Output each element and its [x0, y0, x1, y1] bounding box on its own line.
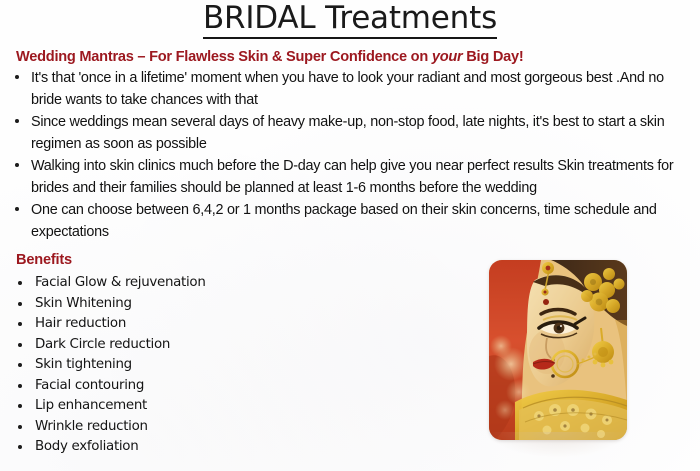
- benefit-item-text: Body exfoliation: [35, 439, 138, 454]
- bullet-dot-icon: [18, 425, 22, 429]
- benefit-item-text: Dark Circle reduction: [35, 337, 170, 352]
- bullet-dot-icon: [18, 343, 22, 347]
- list-item: One can choose between 6,4,2 or 1 months…: [10, 200, 692, 243]
- list-item: Facial contouring: [14, 376, 344, 397]
- main-bullet-list: It's that 'once in a lifetime' moment wh…: [10, 68, 692, 244]
- bullet-dot-icon: [18, 445, 22, 449]
- bridal-portrait-photo: [489, 260, 627, 440]
- list-item-text: Walking into skin clinics much before th…: [31, 156, 692, 199]
- benefits-heading: Benefits: [16, 252, 72, 268]
- bullet-dot-icon: [15, 75, 19, 79]
- benefit-item-text: Facial Glow & rejuvenation: [35, 275, 206, 290]
- bullet-dot-icon: [18, 322, 22, 326]
- bridal-portrait-illustration: [489, 260, 627, 440]
- bullet-dot-icon: [18, 404, 22, 408]
- bullet-dot-icon: [15, 119, 19, 123]
- list-item: Since weddings mean several days of heav…: [10, 112, 692, 155]
- list-item: Skin tightening: [14, 355, 344, 376]
- benefits-list: Facial Glow & rejuvenation Skin Whitenin…: [14, 273, 344, 458]
- wedding-mantras-subtitle: Wedding Mantras – For Flawless Skin & Su…: [16, 49, 523, 65]
- benefit-item-text: Lip enhancement: [35, 398, 147, 413]
- list-item-text: One can choose between 6,4,2 or 1 months…: [31, 200, 692, 243]
- list-item: Body exfoliation: [14, 437, 344, 458]
- page-title-container: BRIDAL Treatments: [0, 2, 700, 39]
- subtitle-text-italic: your: [432, 49, 463, 65]
- benefit-item-text: Wrinkle reduction: [35, 419, 148, 434]
- list-item: Skin Whitening: [14, 294, 344, 315]
- bullet-dot-icon: [18, 363, 22, 367]
- bullet-dot-icon: [18, 281, 22, 285]
- bullet-dot-icon: [18, 302, 22, 306]
- page-title: BRIDAL Treatments: [203, 2, 497, 39]
- benefit-item-text: Hair reduction: [35, 316, 126, 331]
- benefit-item-text: Facial contouring: [35, 378, 144, 393]
- list-item: Wrinkle reduction: [14, 417, 344, 438]
- list-item: It's that 'once in a lifetime' moment wh…: [10, 68, 692, 111]
- list-item: Facial Glow & rejuvenation: [14, 273, 344, 294]
- subtitle-text-after: Big Day!: [462, 49, 523, 65]
- list-item-text: Since weddings mean several days of heav…: [31, 112, 692, 155]
- list-item: Walking into skin clinics much before th…: [10, 156, 692, 199]
- list-item: Dark Circle reduction: [14, 335, 344, 356]
- poster-page: BRIDAL Treatments Wedding Mantras – For …: [0, 0, 700, 471]
- bullet-dot-icon: [18, 384, 22, 388]
- benefit-item-text: Skin Whitening: [35, 296, 132, 311]
- subtitle-text-before: Wedding Mantras – For Flawless Skin & Su…: [16, 49, 432, 65]
- list-item: Hair reduction: [14, 314, 344, 335]
- bullet-dot-icon: [15, 207, 19, 211]
- list-item-text: It's that 'once in a lifetime' moment wh…: [31, 68, 692, 111]
- bullet-dot-icon: [15, 163, 19, 167]
- benefit-item-text: Skin tightening: [35, 357, 132, 372]
- list-item: Lip enhancement: [14, 396, 344, 417]
